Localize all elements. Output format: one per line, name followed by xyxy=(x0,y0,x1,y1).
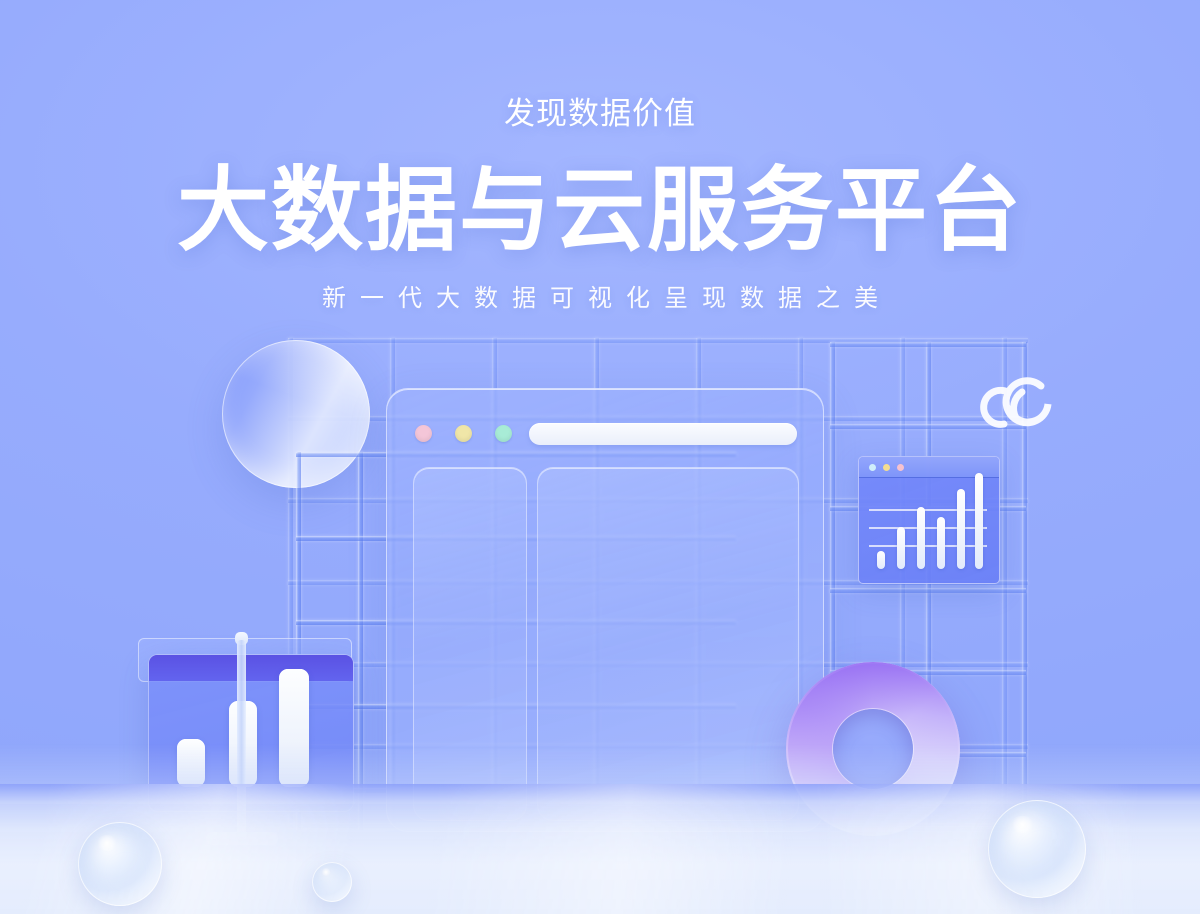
glass-sphere-right xyxy=(988,800,1086,898)
hero-tagline: 发现数据价值 xyxy=(0,98,1200,129)
hero-headline: 大数据与云服务平台 xyxy=(0,165,1200,257)
hero-text-block: 发现数据价值 大数据与云服务平台 新一代大数据可视化呈现数据之美 xyxy=(0,0,1200,311)
glass-sphere-left xyxy=(78,822,162,906)
glass-sphere-mid xyxy=(312,862,352,902)
maximize-dot[interactable] xyxy=(495,425,512,442)
close-dot[interactable] xyxy=(415,425,432,442)
chart-gridline xyxy=(869,545,987,547)
chart-bar xyxy=(877,551,885,569)
chart-gridline xyxy=(869,509,987,511)
chart-gridline xyxy=(869,527,987,529)
widget-dot-3[interactable] xyxy=(897,464,904,471)
hero-banner: 发现数据价值 大数据与云服务平台 新一代大数据可视化呈现数据之美 xyxy=(0,0,1200,914)
address-bar[interactable] xyxy=(529,423,797,445)
widget-dot-2[interactable] xyxy=(883,464,890,471)
analytics-widget[interactable] xyxy=(858,456,1000,584)
cloud-icon xyxy=(978,362,1070,434)
hero-subline: 新一代大数据可视化呈现数据之美 xyxy=(14,287,1200,311)
monitor-panel-header xyxy=(149,655,353,681)
chart-bar xyxy=(975,473,983,569)
chart-bar xyxy=(937,517,945,569)
chart-bar xyxy=(957,489,965,569)
minimize-dot[interactable] xyxy=(455,425,472,442)
chart-bar xyxy=(897,527,905,569)
chart-bar xyxy=(917,507,925,569)
widget-dot-1[interactable] xyxy=(869,464,876,471)
